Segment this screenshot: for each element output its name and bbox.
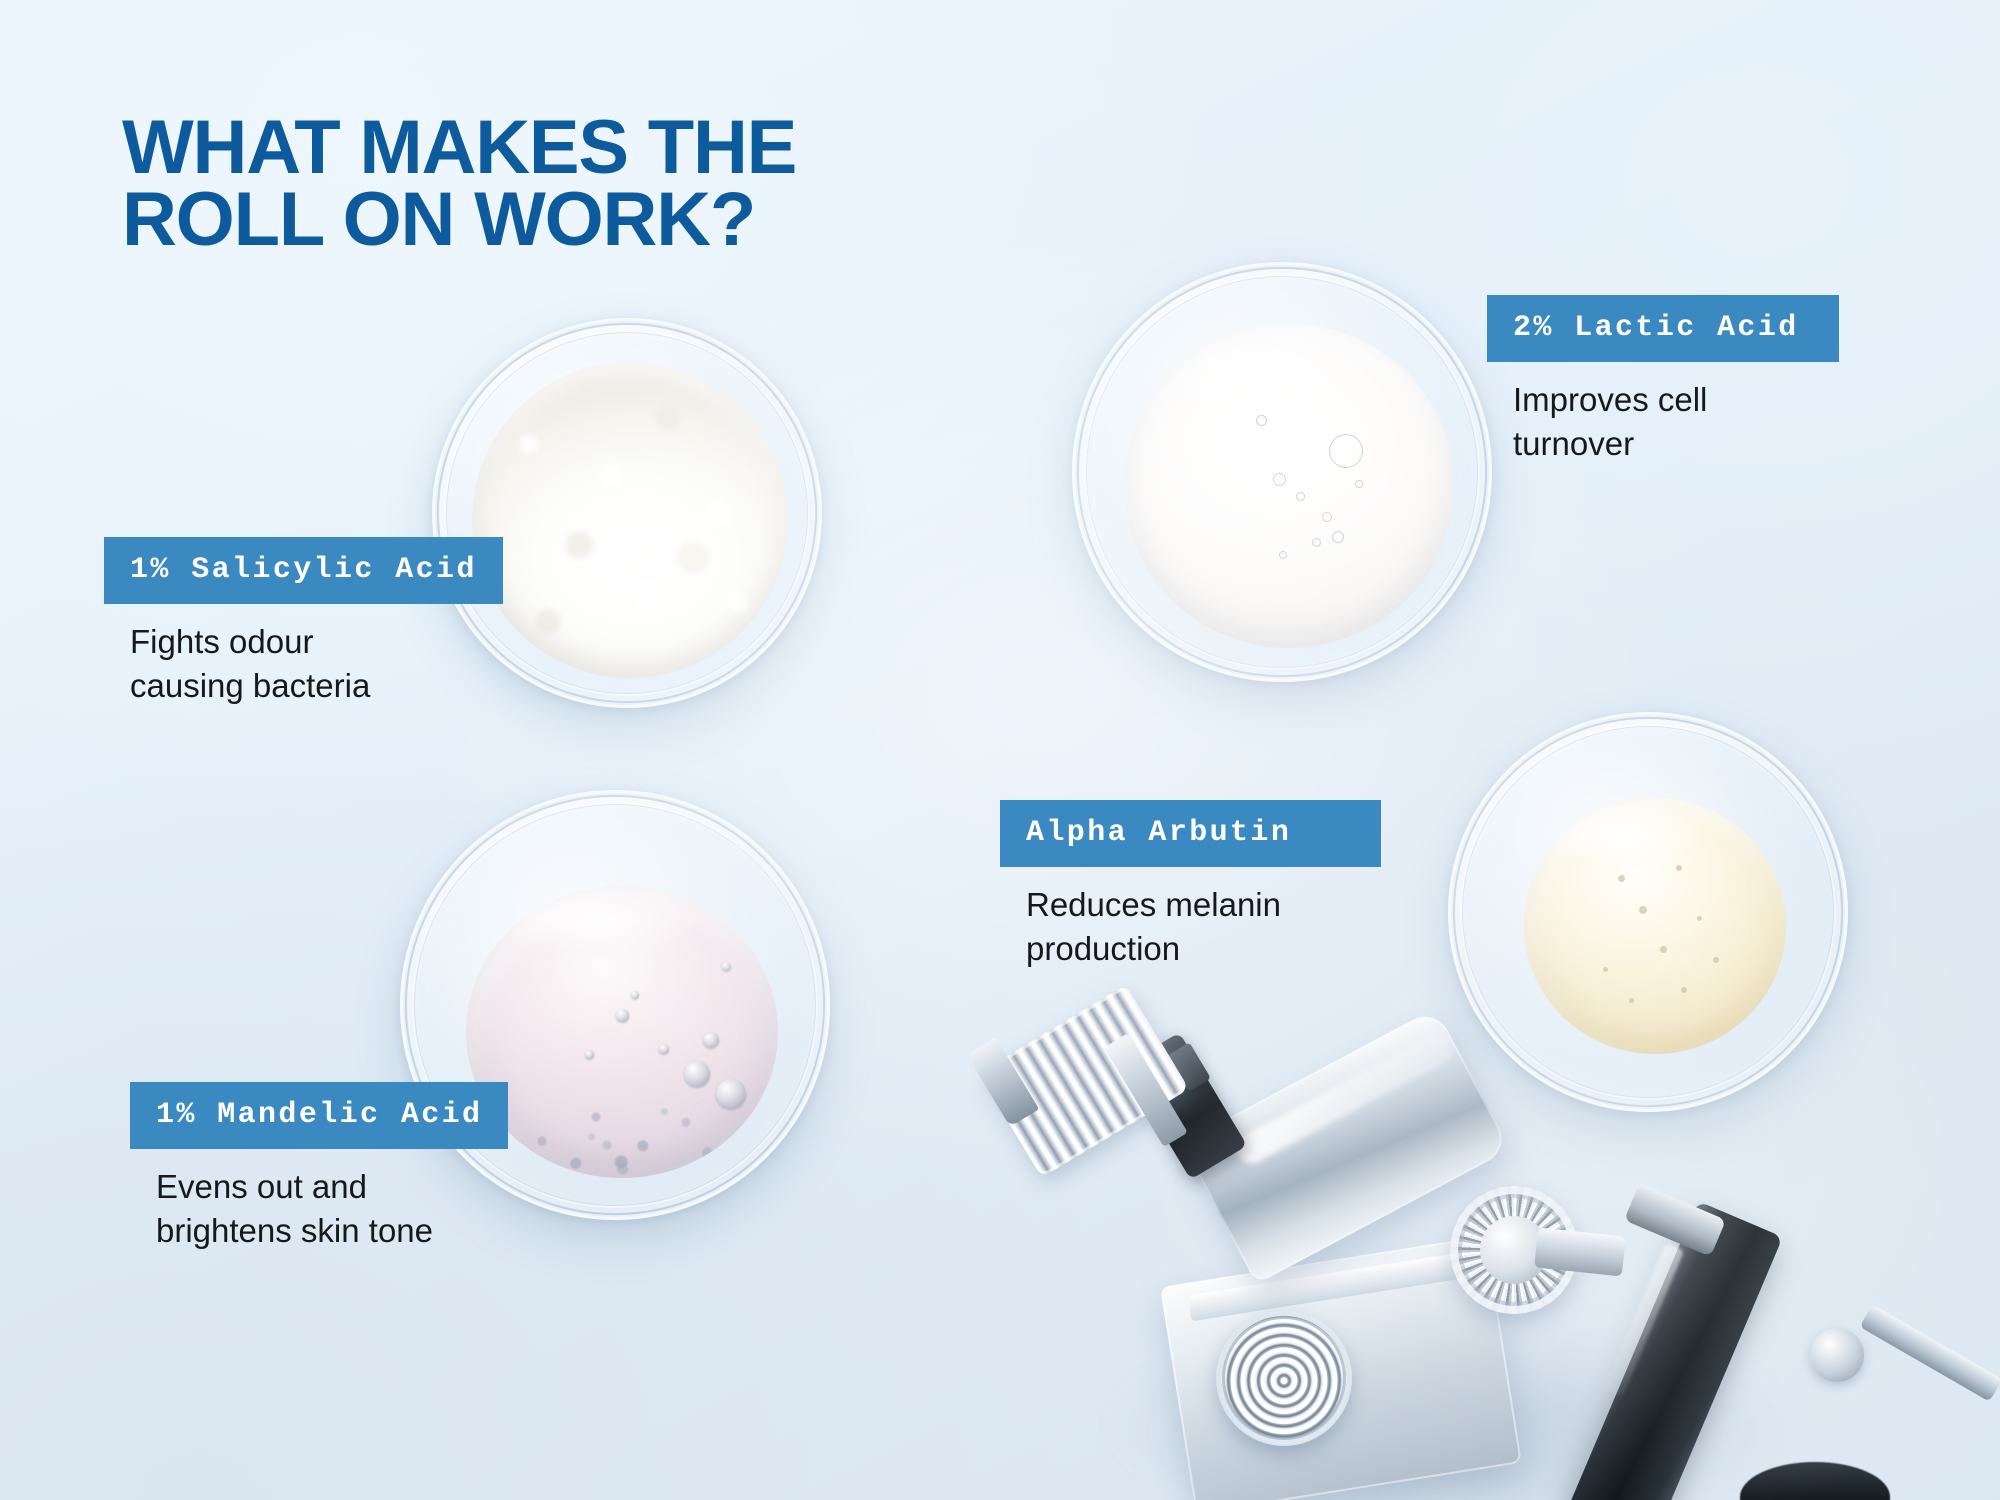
microscope-condenser-lens	[1216, 1310, 1352, 1446]
status-badge-salicylic-acid: 1% Salicylic Acid	[104, 537, 503, 604]
callout-description-lactic-acid: Improves cell turnover	[1487, 378, 1839, 465]
status-badge-mandelic-acid: 1% Mandelic Acid	[130, 1082, 508, 1149]
callout-description-mandelic-acid: Evens out and brightens skin tone	[130, 1165, 508, 1252]
status-badge-lactic-acid: 2% Lactic Acid	[1487, 295, 1839, 362]
page-title-line-2: Roll on work?	[122, 184, 1082, 256]
callout-lactic-acid: 2% Lactic Acid Improves cell turnover	[1487, 295, 1839, 465]
ingredient-infographic: What makes the Roll on work? 1% Salicyli…	[0, 0, 2000, 1500]
status-badge-alpha-arbutin: Alpha Arbutin	[1000, 800, 1381, 867]
microscope-screw	[1810, 1328, 1864, 1382]
dish-specular-highlight	[1072, 262, 1492, 682]
page-title: What makes the Roll on work?	[122, 112, 1082, 256]
microscope-rod	[1860, 1304, 2000, 1402]
callout-description-alpha-arbutin: Reduces melanin production	[1000, 883, 1381, 970]
callout-alpha-arbutin: Alpha Arbutin Reduces melanin production	[1000, 800, 1381, 970]
petri-dish-clear-gel	[1072, 262, 1492, 682]
page-title-line-1: What makes the	[122, 112, 1082, 184]
callout-description-salicylic-acid: Fights odour causing bacteria	[104, 620, 503, 707]
microscope-image	[980, 1010, 2000, 1500]
callout-salicylic-acid: 1% Salicylic Acid Fights odour causing b…	[104, 537, 503, 707]
callout-mandelic-acid: 1% Mandelic Acid Evens out and brightens…	[130, 1082, 508, 1252]
